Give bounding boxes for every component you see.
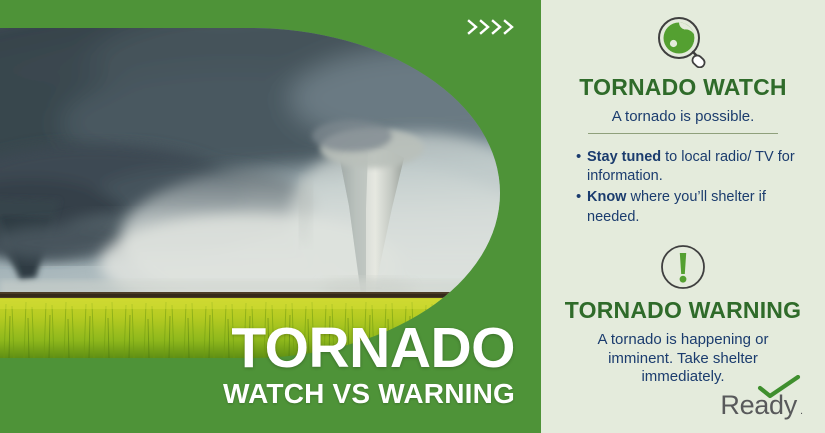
tornado-photo (0, 28, 500, 358)
section-divider (588, 133, 778, 134)
left-green-panel: TORNADO WATCH VS WARNING (0, 0, 541, 433)
ready-logo-dot: . (800, 405, 803, 417)
page-title: TORNADO (223, 322, 515, 374)
tornado-watch-bullets: Stay tuned to local radio/ TV for inform… (541, 148, 825, 227)
title-block: TORNADO WATCH VS WARNING (223, 322, 515, 411)
right-info-panel: TORNADO WATCH A tornado is possible. Sta… (541, 0, 825, 433)
list-item: Stay tuned to local radio/ TV for inform… (587, 148, 811, 187)
magnifying-glass-icon (541, 14, 825, 68)
list-item: Know where you’ll shelter if needed. (587, 188, 811, 227)
tornado-infographic: TORNADO WATCH VS WARNING TORNADO WATCH A… (0, 0, 825, 433)
checkmark-icon (757, 375, 801, 399)
ready-logo[interactable]: Ready . (720, 392, 803, 419)
chevron-arrows-icon (467, 18, 519, 36)
exclamation-circle-icon (541, 243, 825, 291)
bullet-strong-text: Stay tuned (587, 149, 661, 165)
page-subtitle: WATCH VS WARNING (223, 376, 515, 411)
tornado-watch-subheading: A tornado is possible. (541, 108, 825, 127)
tornado-watch-heading: TORNADO WATCH (541, 74, 825, 101)
bullet-strong-text: Know (587, 189, 626, 205)
tornado-warning-heading: TORNADO WARNING (541, 297, 825, 324)
